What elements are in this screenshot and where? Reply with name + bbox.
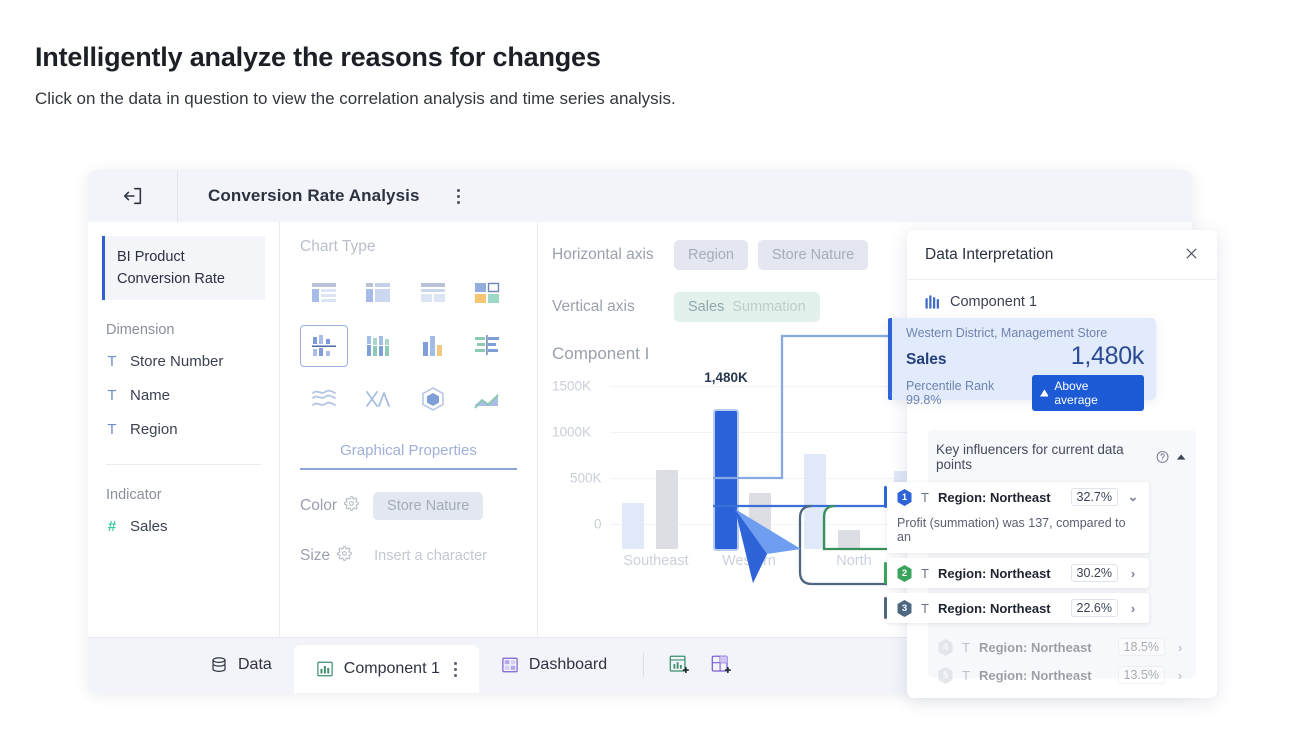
text-type-icon: T — [106, 353, 118, 370]
influencer-row[interactable]: 3 T Region: Northeast 22.6% › — [887, 593, 1149, 623]
chevron-right-icon[interactable]: › — [1174, 640, 1186, 655]
influencer-row-4[interactable]: 4 T Region: Northeast 18.5% › — [928, 633, 1196, 661]
rank-number: 5 — [943, 670, 948, 681]
tab-label: Dashboard — [529, 656, 607, 674]
rank-number: 2 — [902, 568, 907, 579]
tab-data[interactable]: Data — [188, 637, 294, 693]
influencer-marker — [884, 486, 887, 508]
chart-type-grid — [300, 272, 517, 420]
key-influencers-header: Key influencers for current data points — [928, 430, 1196, 482]
add-dashboard-button[interactable] — [700, 637, 742, 693]
back-button[interactable] — [88, 170, 178, 222]
property-label: Color — [300, 497, 337, 515]
influencer-percent: 13.5% — [1118, 666, 1165, 684]
chart-type-grouped-bar[interactable] — [300, 325, 348, 367]
field-label: Region — [130, 421, 178, 438]
exit-arrow-icon — [122, 185, 144, 207]
pivot-table-icon — [365, 282, 391, 304]
influencer-label: Region: Northeast — [938, 601, 1051, 616]
chart-type-stacked-column[interactable] — [354, 325, 402, 367]
rank-badge: 2 — [897, 565, 912, 582]
influencer-percent: 30.2% — [1071, 564, 1118, 582]
graphical-properties-label: Graphical Properties — [300, 442, 517, 470]
chart-type-label: Chart Type — [300, 238, 517, 256]
influencer-card-1[interactable]: 1 T Region: Northeast 32.7% ⌄ Profit (su… — [887, 482, 1149, 553]
influencer-card-2[interactable]: 2 T Region: Northeast 30.2% › — [887, 558, 1149, 588]
influencer-marker — [884, 562, 887, 584]
influencer-card-3[interactable]: 3 T Region: Northeast 22.6% › — [887, 593, 1149, 623]
influencer-label: Region: Northeast — [938, 566, 1051, 581]
axis-chip-region[interactable]: Region — [674, 240, 748, 270]
window-title: Conversion Rate Analysis — [208, 186, 420, 206]
vertical-axis-label: Vertical axis — [552, 298, 674, 316]
text-type-icon: T — [921, 490, 929, 505]
chip-field: Sales — [688, 299, 724, 315]
chart-type-cross-table[interactable] — [409, 272, 457, 314]
cursor-pointer-icon — [731, 503, 807, 587]
y-tick-label: 1500K — [552, 379, 591, 394]
influencer-detail: Profit (summation) was 137, compared to … — [887, 512, 1149, 553]
text-type-icon: T — [106, 387, 118, 404]
axis-chip-store-nature[interactable]: Store Nature — [758, 240, 868, 270]
di-title: Data Interpretation — [925, 246, 1053, 264]
size-field-input[interactable]: Insert a character — [366, 542, 501, 570]
dataset-card[interactable]: BI Product Conversion Rate — [102, 236, 265, 300]
di-header: Data Interpretation — [907, 230, 1217, 280]
key-influencers-list: 1 T Region: Northeast 32.7% ⌄ Profit (su… — [928, 482, 1196, 689]
influencer-label: Region: Northeast — [938, 490, 1051, 505]
bar-value-label: 1,480K — [704, 370, 748, 385]
chip-agg: Summation — [732, 299, 805, 315]
field-label: Store Number — [130, 353, 223, 370]
field-label: Name — [130, 387, 170, 404]
more-vertical-icon — [457, 189, 460, 192]
help-circle-icon[interactable] — [1156, 450, 1169, 464]
influencer-marker — [884, 597, 887, 619]
grouped-bar-icon — [311, 334, 337, 358]
indicator-section-label: Indicator — [106, 487, 279, 503]
database-icon — [210, 656, 228, 674]
chevron-down-icon[interactable]: ⌄ — [1127, 489, 1139, 505]
chart-type-column-chart[interactable] — [409, 325, 457, 367]
chart-type-table[interactable] — [300, 272, 348, 314]
dataset-line-1: BI Product — [117, 246, 265, 268]
tab-label: Data — [238, 656, 272, 674]
key-influencers-box: Key influencers for current data points — [928, 430, 1196, 678]
x-tick-label: North — [836, 553, 871, 569]
app-topbar: Conversion Rate Analysis — [88, 170, 1192, 222]
chevron-right-icon[interactable]: › — [1127, 566, 1139, 581]
y-tick-label: 500K — [570, 471, 602, 486]
chart-type-pivot-table[interactable] — [354, 272, 402, 314]
y-tick-label: 1000K — [552, 425, 591, 440]
add-chart-button[interactable] — [658, 637, 700, 693]
di-component-row[interactable]: Component 1 — [907, 280, 1217, 320]
bar-southeast-b[interactable] — [656, 470, 678, 549]
cross-table-icon — [420, 282, 446, 304]
influencer-percent: 18.5% — [1118, 638, 1165, 656]
page-subtitle: Click on the data in question to view th… — [35, 89, 676, 109]
axis-chip-sales[interactable]: Sales Summation — [674, 292, 820, 322]
area-chart-icon — [474, 388, 500, 410]
badge-label: Above average — [1054, 379, 1134, 407]
more-vertical-icon — [454, 662, 457, 665]
tooltip-metric: Sales — [906, 351, 947, 369]
field-item-store-number[interactable]: T Store Number — [106, 344, 279, 378]
text-type-icon: T — [921, 566, 929, 581]
influencer-percent: 22.6% — [1071, 599, 1118, 617]
rank-number: 1 — [902, 492, 907, 503]
dashboard-grid-icon — [501, 656, 519, 674]
x-tick-label: Southeast — [623, 553, 688, 569]
field-item-sales[interactable]: # Sales — [106, 509, 279, 543]
chart-type-area-chart[interactable] — [463, 378, 511, 420]
tabbar-divider — [643, 653, 644, 677]
tooltip-context: Western District, Management Store — [906, 326, 1144, 340]
text-type-icon: T — [921, 601, 929, 616]
tooltip-rank: Percentile Rank 99.8% — [906, 379, 1032, 407]
tab-dashboard[interactable]: Dashboard — [479, 637, 629, 693]
gear-icon[interactable] — [337, 546, 352, 566]
y-tick-label: 0 — [594, 517, 602, 532]
field-item-name[interactable]: T Name — [106, 378, 279, 412]
value-tooltip: Western District, Management Store Sales… — [888, 318, 1156, 400]
chart-type-horizontal-bar[interactable] — [463, 325, 511, 367]
bar-chart-icon — [316, 660, 334, 678]
bar-southeast-a[interactable] — [622, 503, 644, 549]
gear-icon[interactable] — [344, 496, 359, 516]
dimension-section-label: Dimension — [106, 322, 279, 338]
column-chart-icon — [420, 334, 446, 358]
chevron-right-icon[interactable]: › — [1127, 601, 1139, 616]
area-wave-icon — [311, 388, 337, 410]
tooltip-footer: Percentile Rank 99.8% Above average — [906, 375, 1144, 411]
property-row-size: Size Insert a character — [300, 542, 517, 570]
chevron-up-icon[interactable] — [1176, 453, 1186, 461]
bar-chart-icon — [925, 295, 940, 309]
page-root: Intelligently analyze the reasons for ch… — [0, 0, 1308, 750]
field-label: Sales — [130, 518, 168, 535]
fields-panel: BI Product Conversion Rate Dimension T S… — [88, 222, 280, 637]
polygon-gauge-icon — [420, 387, 446, 411]
table-icon — [311, 282, 337, 304]
field-item-region[interactable]: T Region — [106, 412, 279, 446]
add-dashboard-icon — [710, 654, 732, 676]
horizontal-axis-label: Horizontal axis — [552, 246, 674, 264]
text-type-icon: T — [962, 640, 970, 655]
text-type-icon: T — [106, 421, 118, 438]
chevron-right-icon[interactable]: › — [1174, 668, 1186, 683]
color-field-value[interactable]: Store Nature — [373, 492, 483, 520]
scatter-line-icon — [365, 388, 391, 410]
key-influencers-title: Key influencers for current data points — [936, 442, 1149, 472]
rank-badge: 3 — [897, 600, 912, 617]
chart-type-kpi-card[interactable] — [463, 272, 511, 314]
rank-badge: 1 — [897, 489, 912, 506]
property-label: Size — [300, 547, 330, 565]
influencer-row[interactable]: 2 T Region: Northeast 30.2% › — [887, 558, 1149, 588]
influencer-row[interactable]: 1 T Region: Northeast 32.7% ⌄ — [887, 482, 1149, 512]
influencer-label: Region: Northeast — [979, 640, 1092, 655]
rank-number: 3 — [902, 603, 907, 614]
influencer-row-5[interactable]: 5 T Region: Northeast 13.5% › — [928, 661, 1196, 689]
page-title: Intelligently analyze the reasons for ch… — [35, 42, 601, 73]
chart-type-area-wave[interactable] — [300, 378, 348, 420]
influencer-label: Region: Northeast — [979, 668, 1092, 683]
add-chart-icon — [668, 654, 690, 676]
chart-type-polygon-gauge[interactable] — [409, 378, 457, 420]
config-panel: Chart Type — [280, 222, 538, 637]
horizontal-bar-icon — [474, 334, 500, 358]
bar-north-b[interactable] — [838, 530, 860, 549]
dataset-line-2: Conversion Rate — [117, 268, 265, 290]
di-component-label: Component 1 — [950, 294, 1037, 310]
rank-number: 4 — [943, 642, 948, 653]
chart-type-scatter-line[interactable] — [354, 378, 402, 420]
influencer-percent: 32.7% — [1071, 488, 1118, 506]
property-row-color: Color Store Nature — [300, 492, 517, 520]
triangle-up-icon — [1040, 389, 1049, 397]
tooltip-main: Sales 1,480k — [906, 342, 1144, 371]
rank-badge: 5 — [938, 667, 953, 684]
window-more-button[interactable] — [450, 185, 468, 207]
kpi-card-icon — [474, 282, 500, 304]
tab-more-button[interactable] — [454, 662, 457, 677]
number-type-icon: # — [106, 518, 118, 535]
tab-label: Component 1 — [344, 660, 440, 678]
text-type-icon: T — [962, 668, 970, 683]
status-badge: Above average — [1032, 375, 1145, 411]
tooltip-value: 1,480k — [1071, 342, 1144, 371]
panel-divider — [106, 464, 261, 465]
close-icon[interactable] — [1184, 246, 1199, 264]
tab-component-1[interactable]: Component 1 — [294, 645, 479, 693]
stacked-column-icon — [365, 334, 391, 358]
bar-north-a[interactable] — [804, 454, 826, 549]
rank-badge: 4 — [938, 639, 953, 656]
